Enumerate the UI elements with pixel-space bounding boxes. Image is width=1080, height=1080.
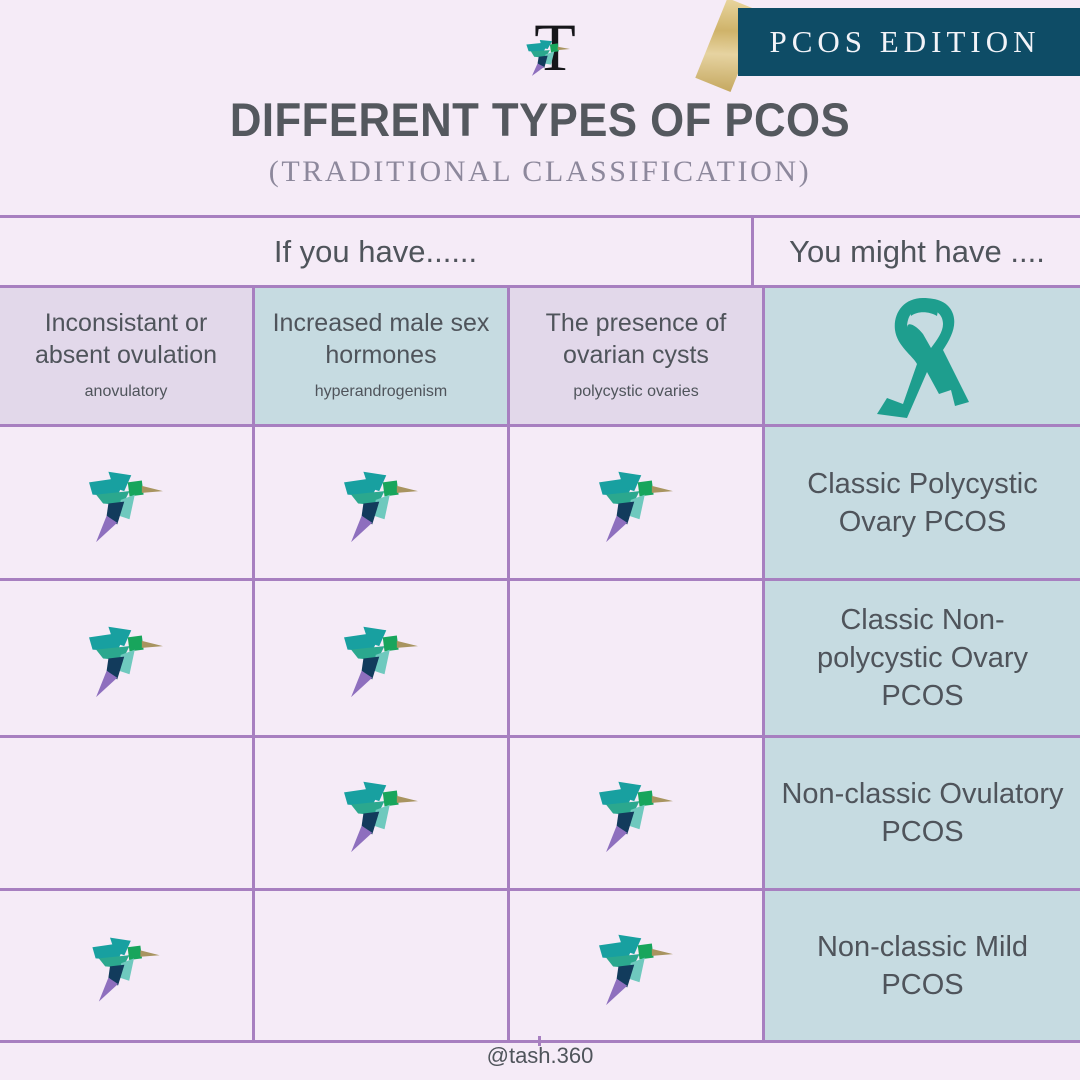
column-header-sublabel: hyperandrogenism: [315, 383, 448, 401]
table-row: Classic Non-polycystic Ovary PCOS: [0, 578, 1080, 735]
table-row: Non-classic Mild PCOS: [0, 888, 1080, 1040]
result-cell: Classic Polycystic Ovary PCOS: [765, 427, 1080, 578]
group-header-criteria: If you have......: [0, 218, 754, 285]
result-cell: Non-classic Ovulatory PCOS: [765, 738, 1080, 888]
hummingbird-icon: [82, 461, 170, 545]
criteria-cell: [255, 738, 507, 888]
criteria-cell: [0, 891, 252, 1040]
column-header-polycystic-ovaries: The presence of ovarian cysts polycystic…: [510, 288, 762, 424]
criteria-cell: [0, 581, 252, 735]
column-header-result-icon: [765, 288, 1080, 424]
edition-badge: PCOS EDITION: [710, 8, 1080, 76]
page-subtitle: (TRADITIONAL CLASSIFICATION): [0, 155, 1080, 189]
column-header-label: Increased male sex hormones: [261, 307, 501, 371]
criteria-cell: [0, 427, 252, 578]
page-header: T PCOS EDITION DIFFERENT TYPES OF PCOS (…: [0, 0, 1080, 215]
hummingbird-icon: [523, 32, 579, 76]
criteria-cell: [510, 738, 762, 888]
hummingbird-icon: [337, 461, 425, 545]
criteria-cell: [255, 891, 507, 1040]
hummingbird-icon: [82, 616, 170, 700]
edition-badge-label: PCOS EDITION: [770, 24, 1049, 60]
result-cell: Classic Non-polycystic Ovary PCOS: [765, 581, 1080, 735]
column-header-label: Inconsistant or absent ovulation: [6, 307, 246, 371]
hummingbird-icon: [337, 771, 425, 855]
hummingbird-icon: [592, 924, 680, 1008]
awareness-ribbon-icon: [873, 294, 973, 418]
table-row: Non-classic Ovulatory PCOS: [0, 735, 1080, 888]
column-header-hyperandrogenism: Increased male sex hormones hyperandroge…: [255, 288, 507, 424]
column-header-anovulatory: Inconsistant or absent ovulation anovula…: [0, 288, 252, 424]
hummingbird-icon: [86, 928, 166, 1004]
footer-handle: @tash.360: [0, 1043, 1080, 1069]
pcos-types-table: If you have...... You might have .... In…: [0, 215, 1080, 1040]
hummingbird-icon: [592, 771, 680, 855]
result-cell: Non-classic Mild PCOS: [765, 891, 1080, 1040]
criteria-cell: [510, 581, 762, 735]
column-header-sublabel: anovulatory: [85, 383, 168, 401]
hummingbird-icon: [592, 461, 680, 545]
table-column-header-row: Inconsistant or absent ovulation anovula…: [0, 285, 1080, 424]
page-title: DIFFERENT TYPES OF PCOS: [38, 92, 1042, 147]
criteria-cell: [255, 581, 507, 735]
criteria-cell: [255, 427, 507, 578]
hummingbird-icon: [337, 616, 425, 700]
criteria-cell: [0, 738, 252, 888]
edition-badge-banner: PCOS EDITION: [738, 8, 1080, 76]
brand-logo: T: [505, 8, 605, 88]
column-header-sublabel: polycystic ovaries: [573, 383, 698, 401]
table-row: Classic Polycystic Ovary PCOS: [0, 424, 1080, 578]
column-header-label: The presence of ovarian cysts: [516, 307, 756, 371]
criteria-cell: [510, 427, 762, 578]
criteria-cell: [510, 891, 762, 1040]
group-header-result: You might have ....: [754, 218, 1080, 285]
table-group-header-row: If you have...... You might have ....: [0, 218, 1080, 285]
